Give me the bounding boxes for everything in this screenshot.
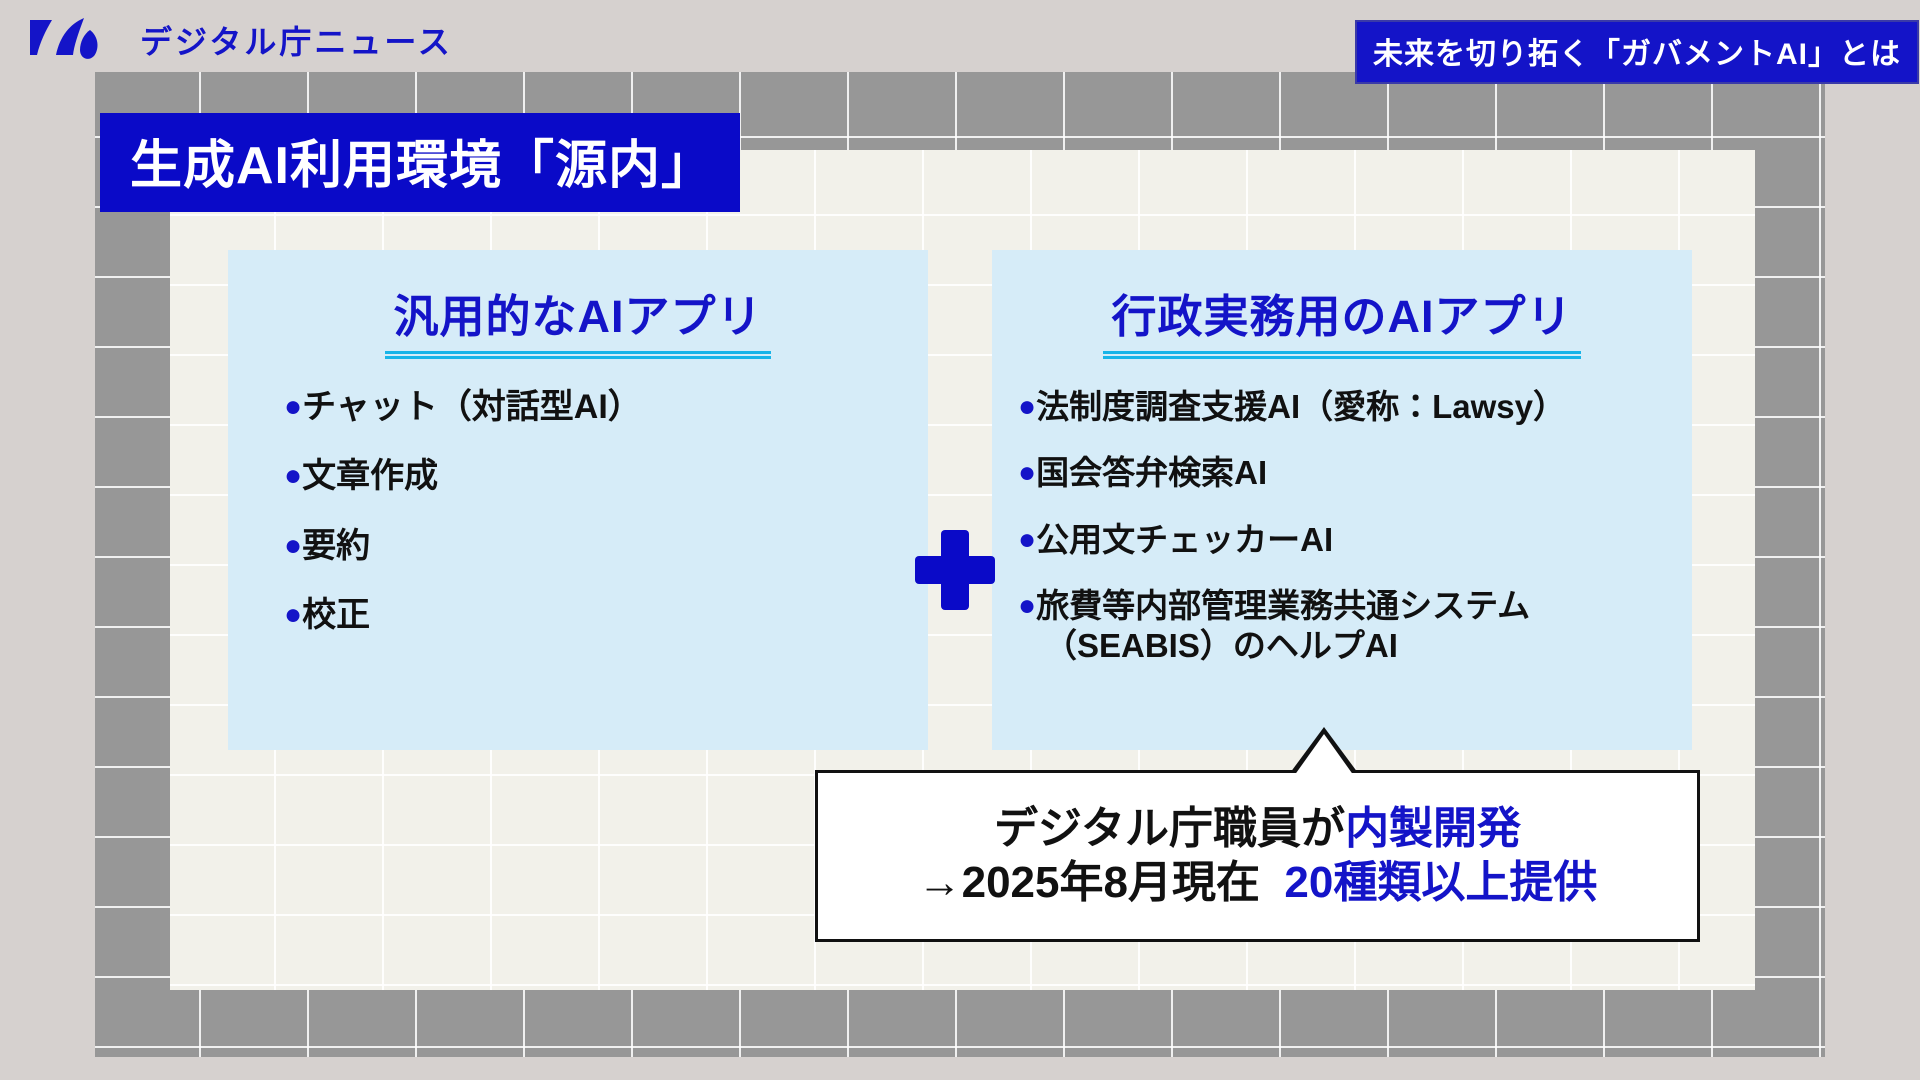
- list-item-label: 国会答弁検索AI: [1036, 454, 1267, 491]
- bullet-dot-icon: ●: [1018, 523, 1036, 556]
- list-item: ●校正: [284, 595, 928, 636]
- bullet-dot-icon: ●: [1018, 390, 1036, 423]
- callout-line-2-black: →2025年8月現在: [918, 858, 1260, 907]
- callout-box: デジタル庁職員が内製開発 →2025年8月現在 20種類以上提供: [815, 770, 1700, 942]
- list-item: ●旅費等内部管理業務共通システム （SEABIS）のヘルプAI: [1018, 586, 1692, 667]
- bullet-dot-icon: ●: [284, 598, 302, 631]
- panel-general-ai-apps: 汎用的なAIアプリ ●チャット（対話型AI） ●文章作成 ●要約 ●校正: [228, 250, 928, 750]
- list-item-label: 公用文チェッカーAI: [1036, 521, 1333, 558]
- bullet-dot-icon: ●: [284, 529, 302, 562]
- list-item: ●国会答弁検索AI: [1018, 453, 1692, 493]
- list-item-label: 文章作成: [302, 457, 438, 495]
- panel-right-heading-text: 行政実務用のAIアプリ: [1111, 280, 1572, 359]
- list-item: ●チャット（対話型AI）: [284, 387, 928, 428]
- list-item-label: 校正: [302, 596, 370, 634]
- bullet-dot-icon: ●: [1018, 589, 1036, 622]
- plus-icon: [915, 530, 995, 610]
- bullet-dot-icon: ●: [284, 390, 302, 423]
- panel-right-bullet-list: ●法制度調査支援AI（愛称：Lawsy） ●国会答弁検索AI ●公用文チェッカー…: [992, 359, 1692, 666]
- list-item-label: 旅費等内部管理業務共通システム: [1036, 587, 1530, 624]
- callout-line-1: デジタル庁職員が内製開発: [818, 802, 1697, 856]
- callout-line-2: →2025年8月現在 20種類以上提供: [818, 856, 1697, 910]
- panel-right-heading: 行政実務用のAIアプリ: [992, 250, 1692, 359]
- list-item: ●法制度調査支援AI（愛称：Lawsy）: [1018, 387, 1692, 427]
- list-item-label: チャット（対話型AI）: [302, 388, 642, 426]
- panel-left-heading-text: 汎用的なAIアプリ: [393, 280, 762, 359]
- digital-agency-logo-icon: [18, 8, 114, 70]
- slide-root: デジタル庁ニュース 未来を切り拓く「ガバメントAI」とは 生成AI利用環境「源内…: [0, 0, 1920, 1080]
- bullet-dot-icon: ●: [284, 459, 302, 492]
- bullet-dot-icon: ●: [1018, 456, 1036, 489]
- corner-badge: 未来を切り拓く「ガバメントAI」とは: [1355, 20, 1919, 84]
- callout-line-2-accent: 20種類以上提供: [1284, 858, 1597, 907]
- header-title: デジタル庁ニュース: [140, 17, 453, 63]
- header-bar: デジタル庁ニュース 未来を切り拓く「ガバメントAI」とは: [0, 0, 1920, 72]
- panel-administrative-ai-apps: 行政実務用のAIアプリ ●法制度調査支援AI（愛称：Lawsy） ●国会答弁検索…: [992, 250, 1692, 750]
- callout-pointer-fill: [1294, 734, 1354, 776]
- list-item-label: 法制度調査支援AI（愛称：Lawsy）: [1036, 388, 1566, 425]
- list-item-label: 要約: [302, 527, 370, 565]
- panel-left-heading: 汎用的なAIアプリ: [228, 250, 928, 359]
- list-item: ●文章作成: [284, 456, 928, 497]
- list-item: ●要約: [284, 526, 928, 567]
- list-item: ●公用文チェッカーAI: [1018, 520, 1692, 560]
- panel-left-bullet-list: ●チャット（対話型AI） ●文章作成 ●要約 ●校正: [228, 359, 928, 637]
- page-title: 生成AI利用環境「源内」: [100, 113, 740, 212]
- callout-line-1-accent: 内製開発: [1345, 804, 1521, 853]
- callout-line-1-black: デジタル庁職員が: [994, 804, 1345, 853]
- list-item-continuation: （SEABIS）のヘルプAI: [1018, 626, 1692, 666]
